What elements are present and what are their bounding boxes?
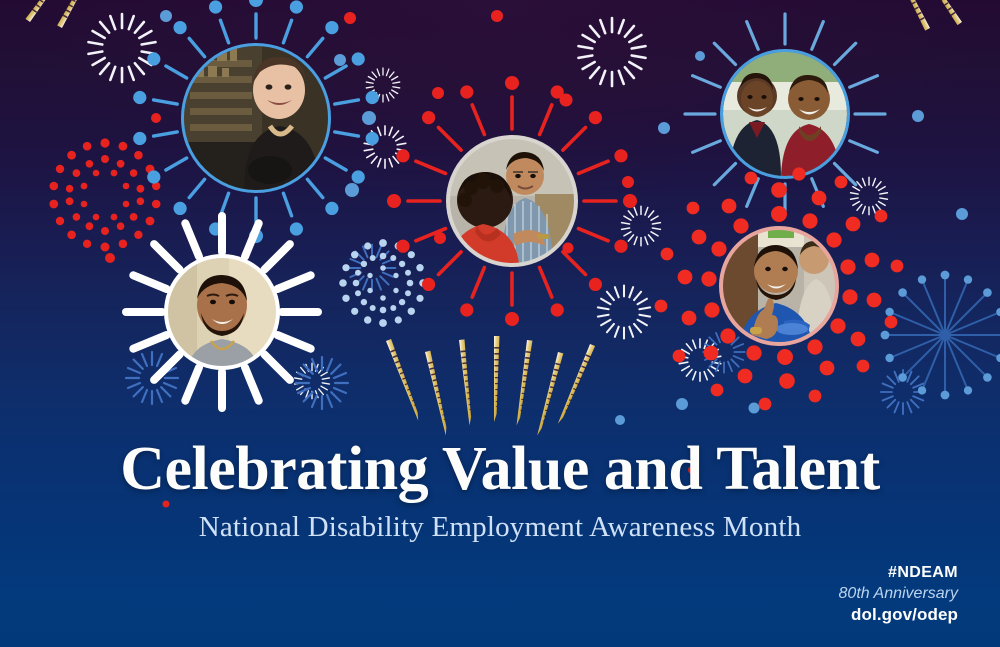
page-title: Celebrating Value and Talent bbox=[0, 438, 1000, 500]
page-subtitle: National Disability Employment Awareness… bbox=[0, 511, 1000, 544]
photo-ring bbox=[446, 135, 578, 267]
hashtag-label: #NDEAM bbox=[839, 562, 958, 583]
corner-branding: #NDEAM 80th Anniversary dol.gov/odep bbox=[839, 562, 958, 627]
website-url[interactable]: dol.gov/odep bbox=[839, 604, 958, 626]
photo-ring bbox=[181, 43, 331, 193]
anniversary-label: 80th Anniversary bbox=[839, 583, 958, 604]
photo-ring bbox=[164, 254, 280, 370]
ndeam-poster: Celebrating Value and Talent National Di… bbox=[0, 0, 1000, 647]
photo-ring bbox=[719, 226, 839, 346]
gold-streak-top-left bbox=[25, 0, 102, 28]
gold-streak-fan-center bbox=[386, 336, 595, 437]
